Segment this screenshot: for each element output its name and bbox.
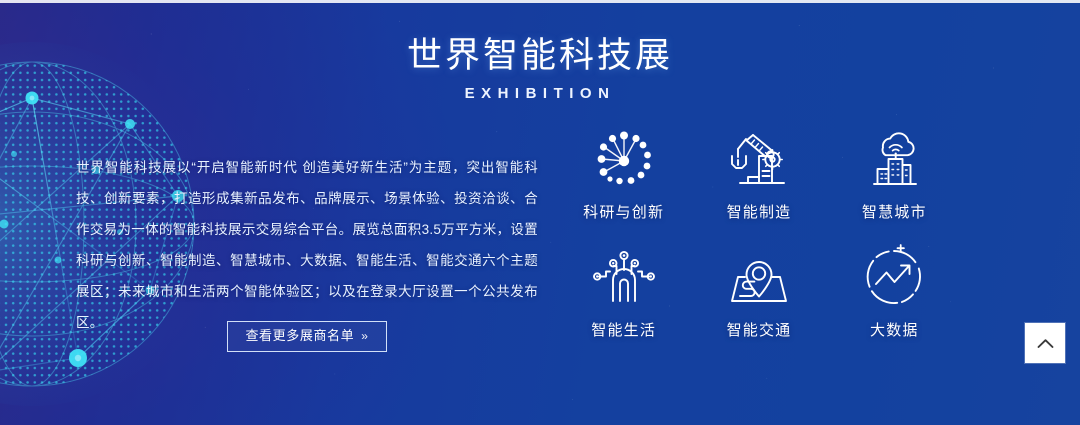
view-more-exhibitors-label: 查看更多展商名单 <box>245 327 354 345</box>
page-title: 世界智能科技展 <box>0 34 1080 78</box>
back-to-top-button[interactable] <box>1025 323 1065 363</box>
category-grid: 科研与创新 <box>556 126 962 340</box>
category-item-smart-city[interactable]: 智慧城市 <box>827 126 962 222</box>
trend-chart-circle-icon <box>861 244 927 310</box>
top-hairline <box>0 0 1080 3</box>
view-more-exhibitors-button[interactable]: 查看更多展商名单 » <box>227 321 386 352</box>
category-label: 智能生活 <box>591 319 656 340</box>
category-item-research-innovation[interactable]: 科研与创新 <box>556 126 691 222</box>
category-item-big-data[interactable]: 大数据 <box>827 244 962 340</box>
category-item-smart-manufacturing[interactable]: 智能制造 <box>691 126 826 222</box>
double-chevron-right-icon: » <box>361 328 368 345</box>
category-label: 科研与创新 <box>583 201 664 222</box>
hero-banner: 世界智能科技展 EXHIBITION 世界智能科技展以“开启智能新时代 创造美好… <box>0 0 1080 425</box>
category-label: 大数据 <box>870 319 919 340</box>
category-label: 智能制造 <box>727 201 792 222</box>
category-item-smart-living[interactable]: 智能生活 <box>556 244 691 340</box>
category-item-smart-transport[interactable]: 智能交通 <box>691 244 826 340</box>
page-subtitle: EXHIBITION <box>0 85 1080 102</box>
hero-heading: 世界智能科技展 EXHIBITION <box>0 34 1080 102</box>
category-label: 智能交通 <box>727 319 792 340</box>
smart-home-circuit-icon <box>591 244 657 310</box>
intro-text-block: 世界智能科技展以“开启智能新时代 创造美好新生活”为主题，突出智能科技、创新要素… <box>76 152 538 338</box>
category-label: 智慧城市 <box>862 201 927 222</box>
robot-arm-icon <box>726 126 792 192</box>
cta-row: 查看更多展商名单 » <box>76 321 538 352</box>
network-nodes-icon <box>591 126 657 192</box>
cloud-city-icon <box>861 126 927 192</box>
chevron-up-icon <box>1037 338 1054 349</box>
intro-paragraph: 世界智能科技展以“开启智能新时代 创造美好新生活”为主题，突出智能科技、创新要素… <box>76 152 538 338</box>
map-pin-road-icon <box>726 244 792 310</box>
